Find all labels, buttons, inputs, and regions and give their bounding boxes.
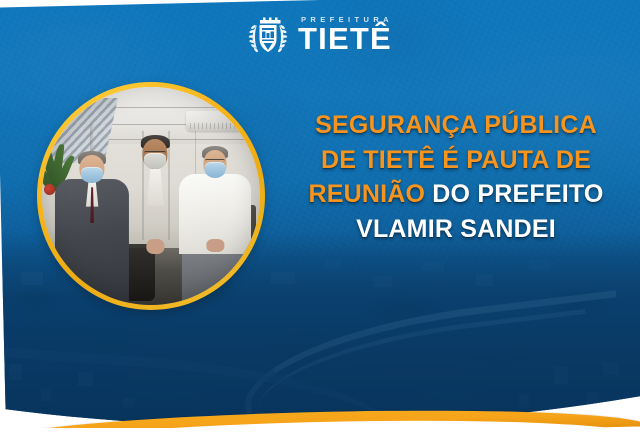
- headline-line-3-white: DO PREFEITO: [425, 180, 603, 208]
- bottom-white-strip: [0, 428, 640, 440]
- tiete-coat-of-arms-icon: [247, 12, 289, 58]
- tiete-news-banner: PREFEITURA TIETÊ: [0, 0, 640, 440]
- prefeitura-logo: PREFEITURA TIETÊ: [0, 12, 640, 58]
- headline-line-1: SEGURANÇA PÚBLICA: [288, 108, 624, 143]
- face-mask-icon: [205, 162, 226, 179]
- headline-line-4: VLAMIR SANDEI: [288, 212, 624, 247]
- headline-line-2: DE TIETÊ É PAUTA DE: [288, 143, 624, 178]
- face-mask-icon: [144, 153, 166, 169]
- meeting-photo-ring: [37, 82, 265, 310]
- logo-name: TIETÊ: [298, 25, 392, 54]
- headline-line-3-orange: REUNIÃO: [308, 180, 425, 208]
- headline-line-3: REUNIÃO DO PREFEITO: [288, 177, 624, 212]
- headline: SEGURANÇA PÚBLICA DE TIETÊ É PAUTA DE RE…: [288, 108, 624, 246]
- person-right: [179, 139, 251, 305]
- meeting-photo: [42, 87, 260, 305]
